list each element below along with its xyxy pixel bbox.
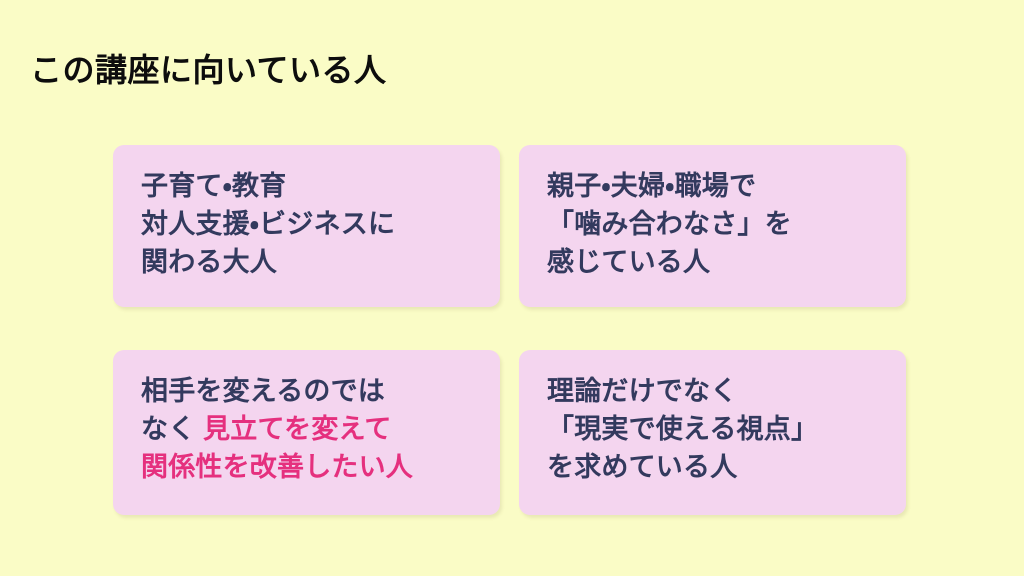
card-text-segment: 「現実で使える視点」	[547, 414, 818, 444]
audience-card-1: 子育て・教育 対人支援・ビジネスに 関わる大人	[113, 145, 500, 307]
card-text-segment: 親子・夫婦・職場で	[547, 171, 756, 201]
card-text-segment: 「噛み合わなさ」を	[547, 209, 792, 239]
card-text-segment: 理論だけでなく	[547, 376, 737, 406]
card-text-line: 相手を変えるのでは	[141, 372, 482, 410]
card-text-line: 親子・夫婦・職場で	[547, 167, 888, 205]
card-text-segment: 感じている人	[547, 247, 710, 277]
card-grid: 子育て・教育 対人支援・ビジネスに 関わる大人 親子・夫婦・職場で 「噛み合わな…	[113, 145, 906, 515]
card-text-segment: 対人支援・ビジネスに	[141, 209, 395, 239]
page-title: この講座に向いている人	[30, 52, 387, 89]
audience-card-2: 親子・夫婦・職場で 「噛み合わなさ」を 感じている人	[519, 145, 906, 307]
card-text-line: 関係性を改善したい人	[141, 448, 482, 486]
audience-card-4: 理論だけでなく 「現実で使える視点」 を求めている人	[519, 350, 906, 515]
card-text-line: 対人支援・ビジネスに	[141, 205, 482, 243]
card-text-line: 感じている人	[547, 243, 888, 281]
card-text-line: を求めている人	[547, 448, 888, 486]
card-text-segment: 相手を変えるのでは	[141, 376, 385, 406]
card-text-line: 「噛み合わなさ」を	[547, 205, 888, 243]
card-text-line: なく 見立てを変えて	[141, 410, 482, 448]
card-text-line: 「現実で使える視点」	[547, 410, 888, 448]
card-text-segment: を求めている人	[547, 452, 737, 482]
card-text-segment-accent: 見立てを変えて	[203, 414, 392, 444]
card-text-segment-accent: 関係性を改善したい人	[141, 452, 413, 482]
card-text-segment: 関わる大人	[141, 247, 277, 277]
slide-canvas: この講座に向いている人 子育て・教育 対人支援・ビジネスに 関わる大人 親子・夫…	[0, 0, 1024, 576]
card-text-line: 子育て・教育	[141, 167, 482, 205]
card-text-segment: なく	[141, 414, 203, 444]
audience-card-3: 相手を変えるのでは なく 見立てを変えて 関係性を改善したい人	[113, 350, 500, 515]
card-text-line: 関わる大人	[141, 243, 482, 281]
card-text-line: 理論だけでなく	[547, 372, 888, 410]
card-text-segment: 子育て・教育	[141, 171, 286, 201]
